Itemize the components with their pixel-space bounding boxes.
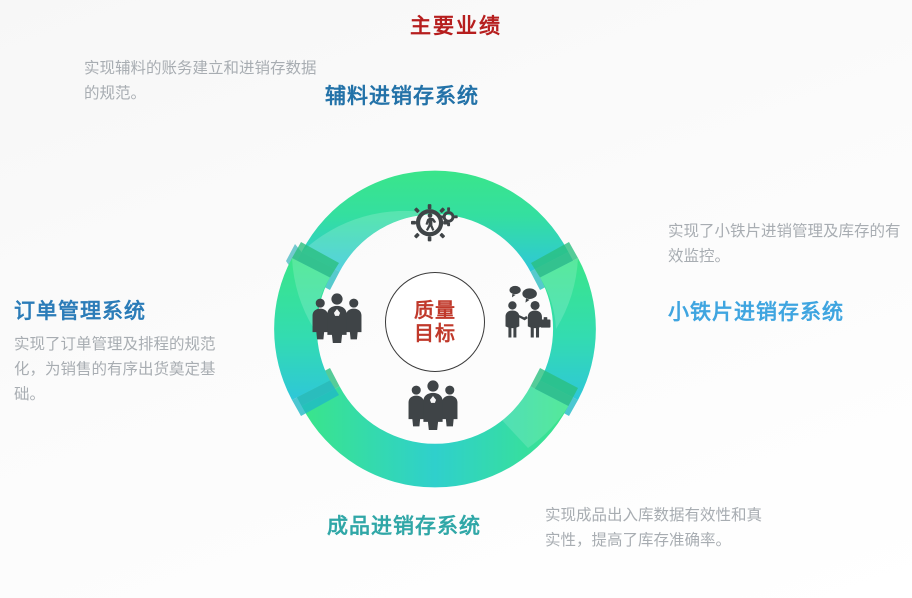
infographic-stage: 主要业绩 — [0, 0, 912, 598]
segment-left-heading[interactable]: 订单管理系统 — [14, 295, 146, 325]
segment-left-description: 实现了订单管理及排程的规范化，为销售的有序出货奠定基础。 — [14, 332, 224, 407]
three-people-icon — [404, 372, 462, 430]
page-title: 主要业绩 — [0, 10, 912, 40]
center-quality-goal: 质量 目标 — [385, 272, 485, 372]
segment-bottom-description: 实现成品出入库数据有效性和真实性，提高了库存准确率。 — [545, 503, 775, 553]
center-line-2: 目标 — [414, 322, 456, 345]
segment-top-heading[interactable]: 辅料进销存系统 — [325, 80, 479, 110]
gear-worker-icon — [406, 196, 464, 254]
team-group-icon — [308, 285, 366, 343]
segment-right-description: 实现了小铁片进销管理及库存的有效监控。 — [668, 219, 906, 269]
segment-bottom-heading[interactable]: 成品进销存系统 — [327, 510, 481, 540]
handshake-people-icon — [497, 281, 555, 339]
segment-top-description: 实现辅料的账务建立和进销存数据的规范。 — [84, 56, 324, 106]
center-line-1: 质量 — [414, 299, 456, 322]
segment-right-heading[interactable]: 小铁片进销存系统 — [668, 296, 844, 326]
